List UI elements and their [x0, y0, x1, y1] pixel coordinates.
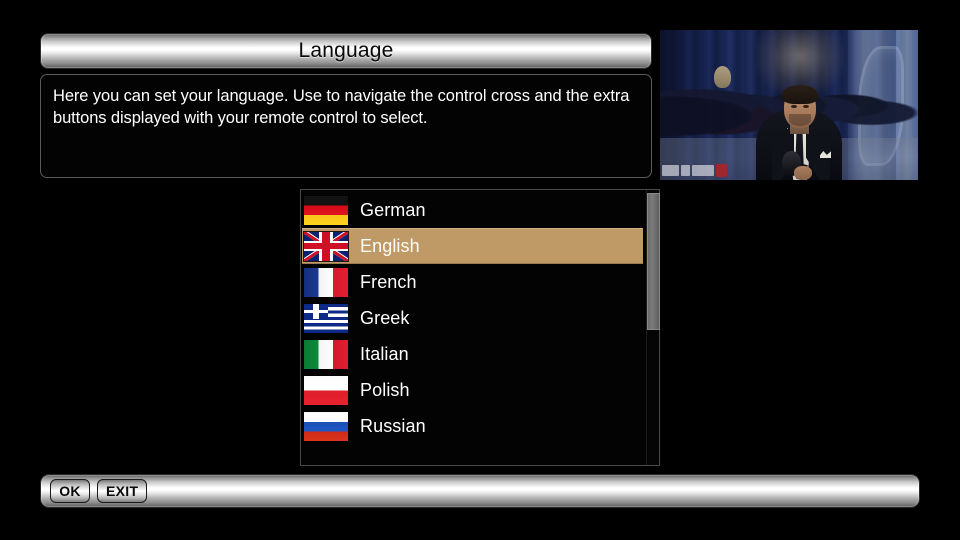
language-list-item-label: Russian	[360, 416, 426, 437]
flag-italy-icon	[304, 340, 348, 369]
description-panel: Here you can set your language. Use to n…	[40, 74, 652, 178]
ok-button[interactable]: OK	[50, 479, 90, 503]
language-list: GermanEnglishFrenchGreekItalianPolishRus…	[302, 192, 643, 444]
flag-poland-icon	[304, 376, 348, 405]
description-text: Here you can set your language. Use to n…	[53, 86, 637, 130]
video-reporter-hand	[794, 166, 812, 180]
title-bar: Language	[40, 33, 652, 69]
language-list-item[interactable]: Italian	[302, 336, 643, 372]
watermark-block-3	[692, 165, 714, 176]
list-scrollbar-track[interactable]	[646, 190, 659, 465]
language-list-panel[interactable]: GermanEnglishFrenchGreekItalianPolishRus…	[300, 189, 660, 466]
video-reporter-hair	[782, 85, 818, 104]
softkey-bar: OKEXIT	[40, 474, 920, 508]
page-title: Language	[298, 39, 393, 63]
language-list-item[interactable]: German	[302, 192, 643, 228]
language-list-item-label: English	[360, 236, 420, 257]
exit-button[interactable]: EXIT	[97, 479, 147, 503]
flag-germany-icon	[304, 196, 348, 225]
flag-greece-icon	[304, 304, 348, 333]
flag-russia-icon	[304, 412, 348, 441]
language-list-item-label: Greek	[360, 308, 410, 329]
tv-settings-screen: Language Here you can set your language.…	[0, 0, 960, 540]
flag-france-icon	[304, 268, 348, 297]
language-list-item-label: Polish	[360, 380, 410, 401]
broadcaster-watermark	[662, 163, 760, 177]
video-reporter-beard	[789, 114, 811, 126]
language-list-item[interactable]: Greek	[302, 300, 643, 336]
language-list-item[interactable]: English	[302, 228, 643, 264]
video-reporter-eye-right	[803, 105, 809, 108]
language-list-item[interactable]: Polish	[302, 372, 643, 408]
list-scrollbar-thumb[interactable]	[647, 193, 660, 331]
watermark-channel-badge	[716, 164, 727, 177]
video-preview[interactable]	[660, 30, 918, 180]
watermark-block-1	[662, 165, 679, 176]
language-list-item[interactable]: French	[302, 264, 643, 300]
watermark-block-2	[681, 165, 690, 176]
video-reporter-eye-left	[791, 105, 797, 108]
flag-united-kingdom-icon	[304, 232, 348, 261]
language-list-item-label: French	[360, 272, 417, 293]
language-list-item[interactable]: Russian	[302, 408, 643, 444]
video-crowd-person	[714, 66, 731, 88]
language-list-item-label: Italian	[360, 344, 409, 365]
language-list-item-label: German	[360, 200, 426, 221]
